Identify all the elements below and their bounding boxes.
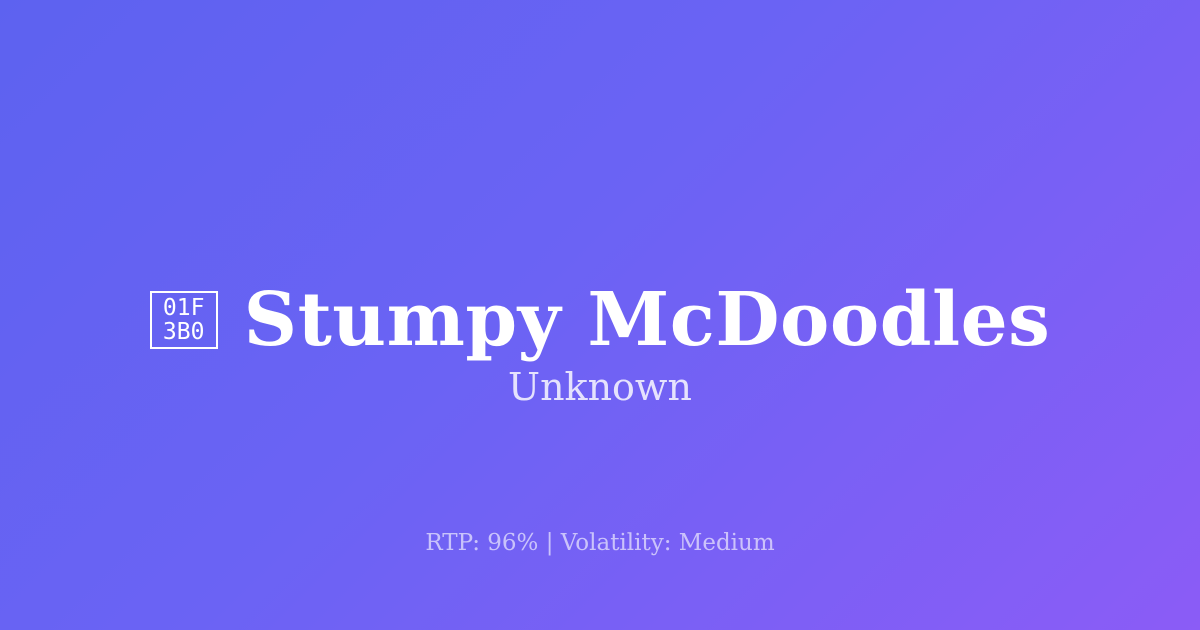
- game-provider-subtitle: Unknown: [0, 362, 1200, 412]
- slot-machine-icon: 01F 3B0: [150, 291, 218, 349]
- slot-machine-icon-codepoint-bottom: 3B0: [163, 320, 205, 344]
- game-meta-line: RTP: 96% | Volatility: Medium: [0, 527, 1200, 559]
- meta-full-text: RTP: 96% | Volatility: Medium: [425, 530, 774, 556]
- game-info-card: 01F 3B0 Stumpy McDoodles Unknown RTP: 96…: [0, 0, 1200, 630]
- page-title: Stumpy McDoodles: [244, 278, 1051, 362]
- slot-machine-icon-codepoint-top: 01F: [163, 296, 205, 320]
